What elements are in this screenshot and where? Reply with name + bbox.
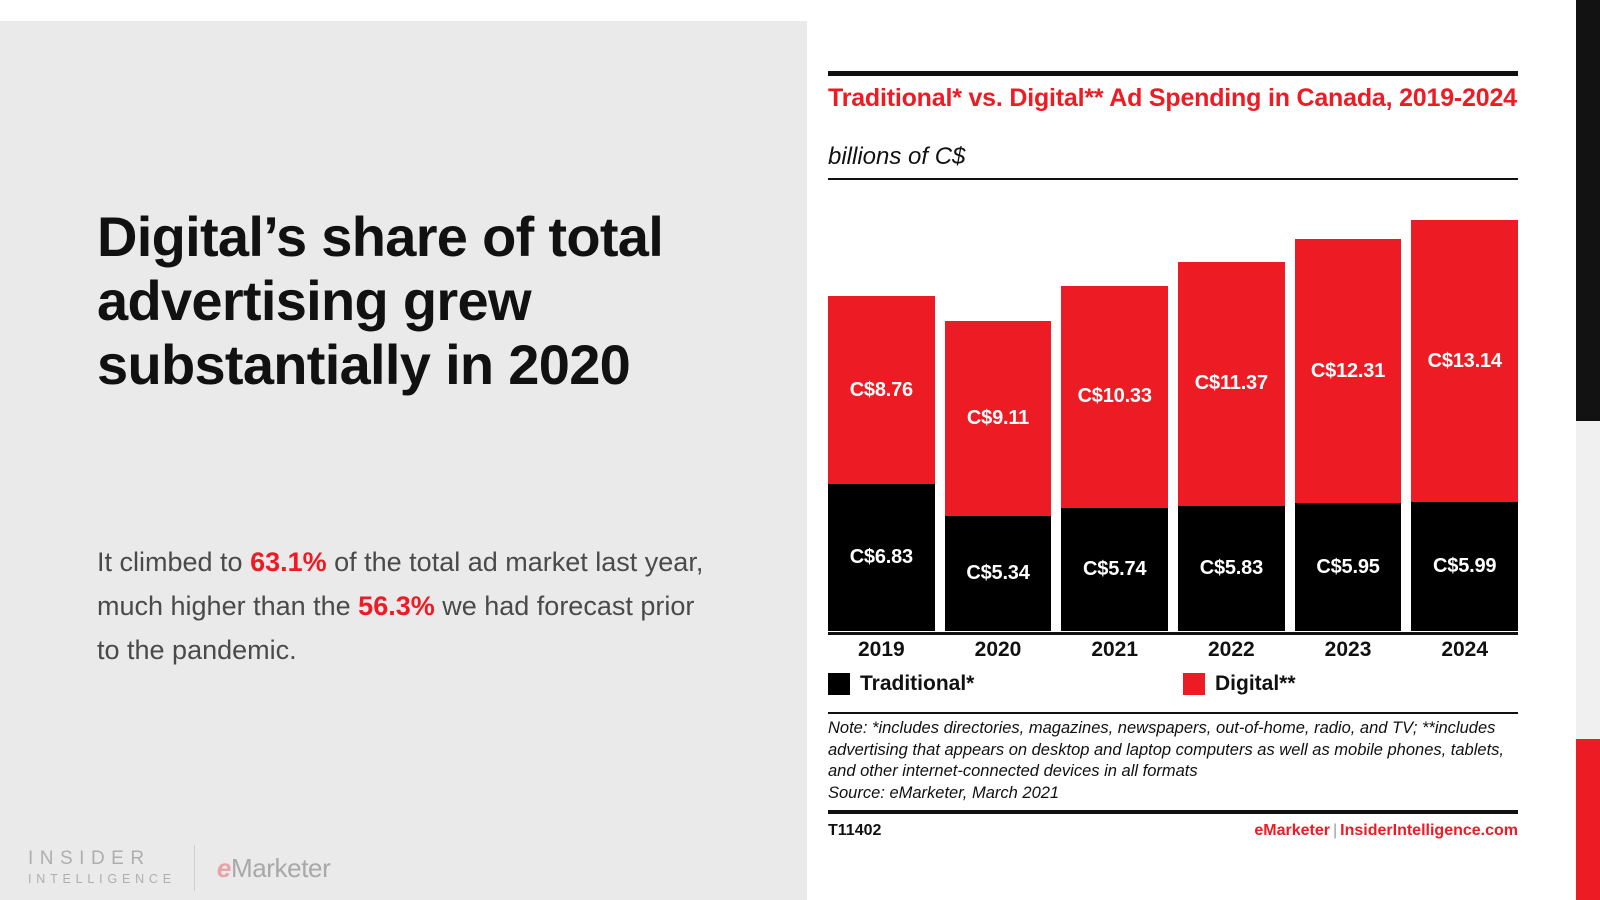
subtitle-bottom-rule [828, 178, 1518, 180]
bar-segment-digital[interactable]: C$9.11 [945, 321, 1052, 517]
bar-segment-digital[interactable]: C$8.76 [828, 296, 935, 484]
stacked-bar-group: C$8.76C$6.83C$9.11C$5.34C$10.33C$5.74C$1… [828, 191, 1518, 631]
bar-value-label-digital: C$11.37 [1195, 372, 1268, 395]
right-edge-red-block [1576, 739, 1600, 900]
bar-value-label-traditional: C$5.95 [1316, 556, 1379, 579]
x-axis-tick-label: 2020 [945, 638, 1052, 668]
bar-column[interactable]: C$8.76C$6.83 [828, 191, 935, 631]
bar-segment-traditional[interactable]: C$5.95 [1295, 503, 1402, 631]
bar-segment-digital[interactable]: C$11.37 [1178, 262, 1285, 506]
footer-brand-insiderintelligence: InsiderIntelligence.com [1340, 822, 1518, 839]
emarketer-wordmark: eMarketer [217, 853, 330, 884]
bar-value-label-digital: C$13.14 [1428, 350, 1502, 373]
bar-segment-traditional[interactable]: C$6.83 [828, 484, 935, 631]
stat-63-1: 63.1% [250, 547, 327, 577]
bar-segment-digital[interactable]: C$13.14 [1411, 220, 1518, 502]
legend-swatch-digital-icon [1183, 673, 1205, 695]
bar-value-label-traditional: C$6.83 [850, 546, 913, 569]
left-content-panel: Digital’s share of total advertising gre… [0, 21, 807, 900]
footer-brand-emarketer: eMarketer [1254, 822, 1330, 839]
legend-item-digital[interactable]: Digital** [1183, 672, 1296, 696]
chart-notes: Note: *includes directories, magazines, … [828, 718, 1528, 804]
bar-segment-traditional[interactable]: C$5.99 [1411, 502, 1518, 631]
chart-title: Traditional* vs. Digital** Ad Spending i… [828, 83, 1518, 113]
bar-segment-digital[interactable]: C$12.31 [1295, 239, 1402, 503]
legend-swatch-traditional-icon [828, 673, 850, 695]
body-copy-part1: It climbed to [97, 547, 250, 577]
bar-value-label-traditional: C$5.99 [1433, 555, 1496, 578]
chart-legend: Traditional* Digital** [828, 672, 1518, 700]
bar-value-label-traditional: C$5.74 [1083, 558, 1146, 581]
legend-item-traditional[interactable]: Traditional* [828, 672, 974, 696]
right-edge-gray-block [1576, 421, 1600, 739]
x-axis-tick-label: 2019 [828, 638, 935, 668]
body-copy: It climbed to 63.1% of the total ad mark… [97, 540, 717, 672]
chart-panel: Traditional* vs. Digital** Ad Spending i… [807, 21, 1576, 900]
chart-id: T11402 [828, 822, 881, 840]
insider-intelligence-wordmark: INSIDER INTELLIGENCE [28, 848, 176, 888]
plot-area: C$8.76C$6.83C$9.11C$5.34C$10.33C$5.74C$1… [828, 191, 1518, 631]
slide-canvas: Digital’s share of total advertising gre… [0, 0, 1600, 900]
page-title: Digital’s share of total advertising gre… [97, 205, 737, 397]
bar-column[interactable]: C$13.14C$5.99 [1411, 191, 1518, 631]
bar-value-label-traditional: C$5.34 [966, 562, 1029, 585]
emarketer-logo-rest: Marketer [231, 853, 330, 883]
x-axis-tick-label: 2024 [1411, 638, 1518, 668]
x-axis-labels: 201920202021202220232024 [828, 638, 1518, 668]
emarketer-logo-e: e [217, 853, 231, 883]
bar-column[interactable]: C$9.11C$5.34 [945, 191, 1052, 631]
bar-segment-traditional[interactable]: C$5.34 [945, 516, 1052, 631]
footer-brand[interactable]: eMarketer|InsiderIntelligence.com [1254, 822, 1518, 840]
logo-insider-line1: INSIDER [28, 848, 176, 870]
bar-value-label-traditional: C$5.83 [1200, 557, 1263, 580]
chart-subtitle: billions of C$ [828, 143, 1518, 171]
stat-56-3: 56.3% [358, 591, 435, 621]
bar-value-label-digital: C$8.76 [850, 379, 913, 402]
x-axis-line [828, 632, 1518, 635]
title-top-rule [828, 71, 1518, 76]
x-axis-tick-label: 2023 [1295, 638, 1402, 668]
footer-brand-separator: | [1330, 822, 1340, 839]
bar-segment-traditional[interactable]: C$5.83 [1178, 506, 1285, 631]
bar-column[interactable]: C$11.37C$5.83 [1178, 191, 1285, 631]
logo-divider [194, 845, 195, 891]
bar-column[interactable]: C$10.33C$5.74 [1061, 191, 1168, 631]
bar-column[interactable]: C$12.31C$5.95 [1295, 191, 1402, 631]
chart-footer: T11402 eMarketer|InsiderIntelligence.com [828, 819, 1518, 843]
x-axis-tick-label: 2022 [1178, 638, 1285, 668]
note-text: Note: *includes directories, magazines, … [828, 718, 1528, 783]
insider-intelligence-emarketer-logo: INSIDER INTELLIGENCE eMarketer [28, 843, 330, 893]
logo-insider-line2: INTELLIGENCE [28, 870, 176, 888]
right-edge-dark-block [1576, 0, 1600, 421]
bar-segment-traditional[interactable]: C$5.74 [1061, 508, 1168, 631]
legend-label-traditional: Traditional* [860, 672, 974, 696]
legend-label-digital: Digital** [1215, 672, 1296, 696]
source-text: Source: eMarketer, March 2021 [828, 783, 1528, 805]
bar-value-label-digital: C$12.31 [1311, 360, 1385, 383]
bar-value-label-digital: C$10.33 [1078, 385, 1152, 408]
note-top-rule [828, 712, 1518, 714]
footer-top-rule [828, 810, 1518, 814]
bar-value-label-digital: C$9.11 [967, 407, 1029, 430]
bar-segment-digital[interactable]: C$10.33 [1061, 286, 1168, 508]
x-axis-tick-label: 2021 [1061, 638, 1168, 668]
